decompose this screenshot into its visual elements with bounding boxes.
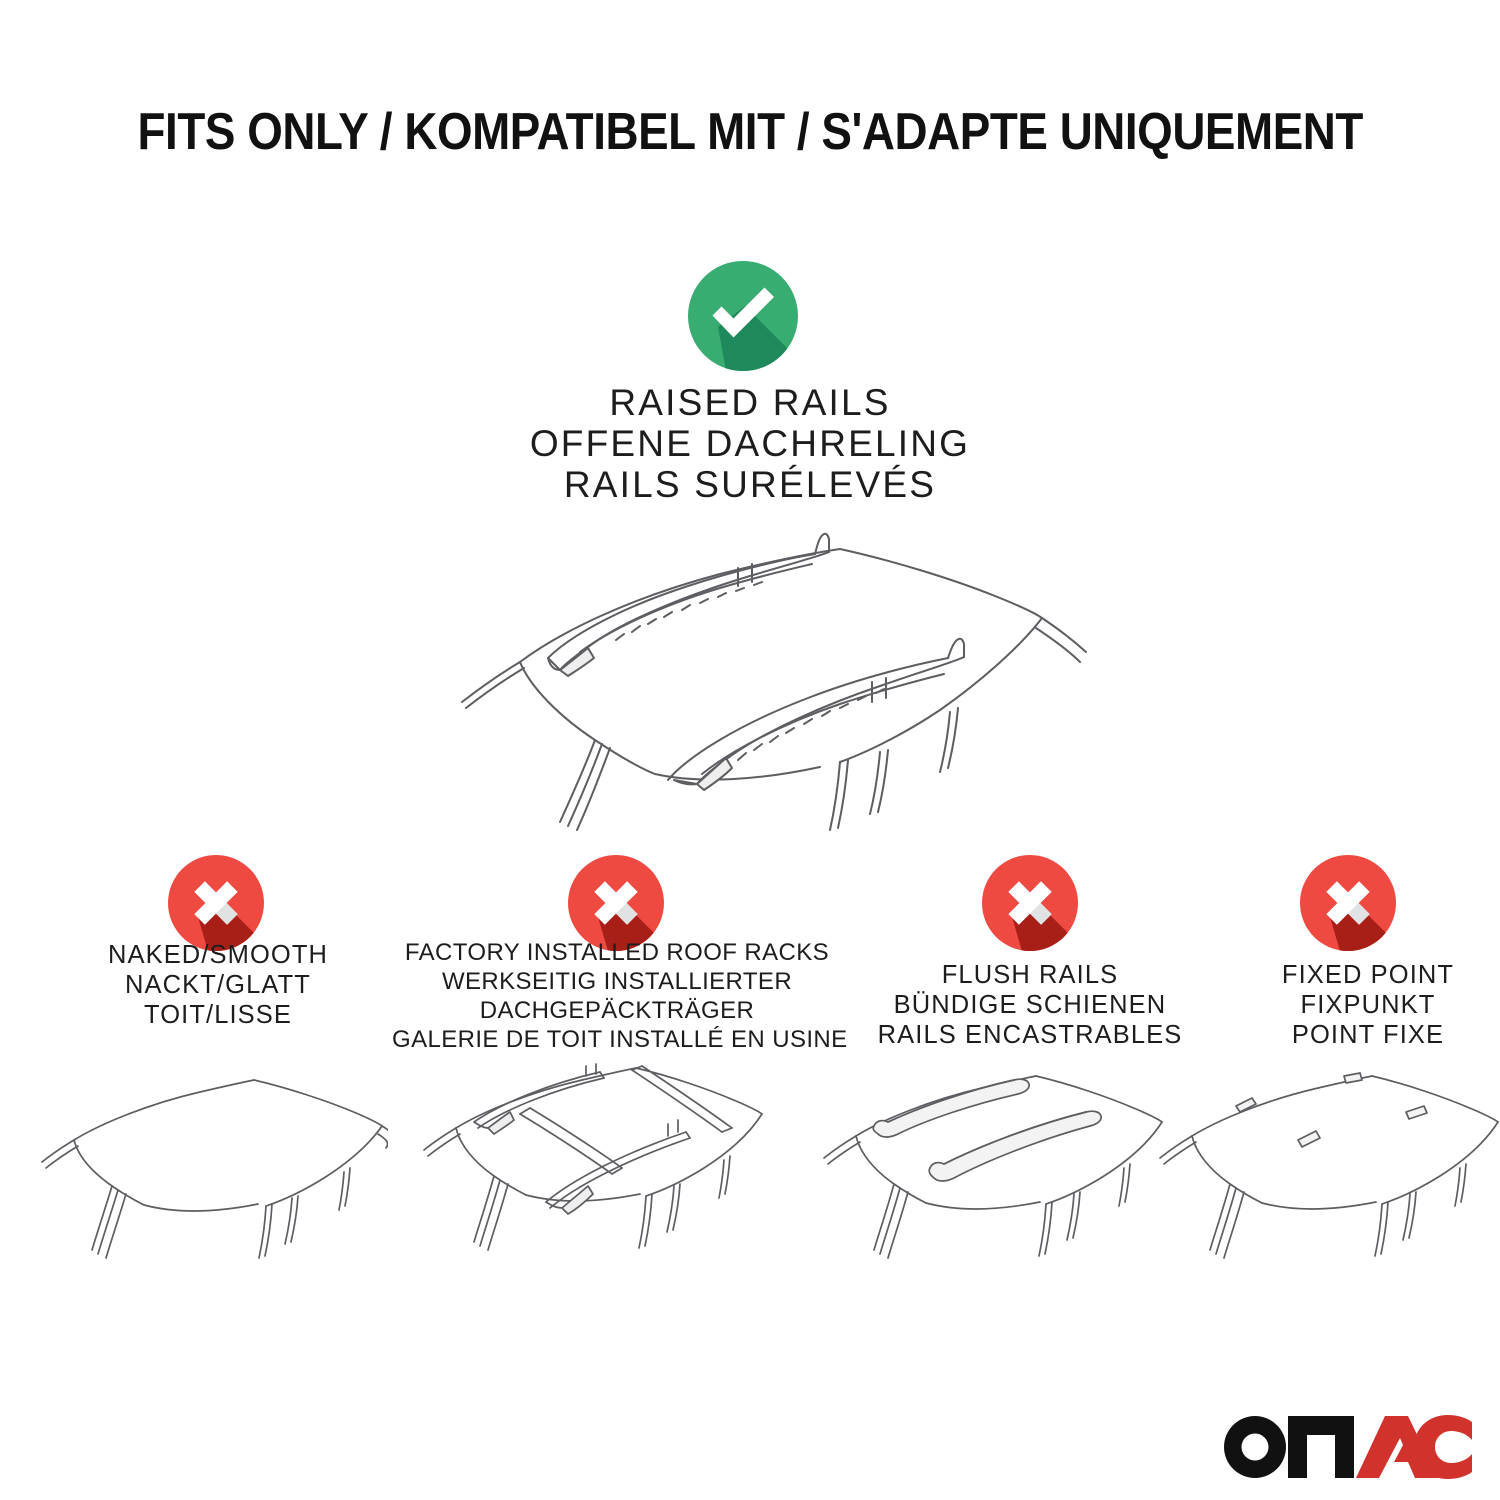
cross-circle-icon-glyph	[982, 855, 1078, 951]
compatible-caption-line-1: RAISED RAILS	[0, 382, 1500, 423]
incompatible-caption-2-line-2: WERKSEITIG INSTALLIERTER	[392, 967, 842, 996]
cross-circle-icon	[982, 855, 1078, 951]
incompatible-caption-4-line-2: FIXPUNKT	[1168, 990, 1500, 1020]
cross-circle-icon	[1300, 855, 1396, 951]
incompatible-caption-2-line-3: DACHGEPÄCKTRÄGER	[392, 996, 842, 1025]
incompatible-caption-1-line-2: NACKT/GLATT	[18, 970, 418, 1000]
incompatible-caption-1-line-1: NAKED/SMOOTH	[18, 940, 418, 970]
compatible-caption-line-2: OFFENE DACHRELING	[0, 423, 1500, 464]
incompatible-caption-4-line-3: POINT FIXE	[1168, 1020, 1500, 1050]
check-circle-icon-glyph	[688, 261, 798, 371]
incompatible-caption-1: NAKED/SMOOTH NACKT/GLATT TOIT/LISSE	[18, 940, 418, 1030]
check-circle-icon	[688, 261, 798, 371]
cross-circle-icon-glyph	[1300, 855, 1396, 951]
omac-logo-mark	[1222, 1404, 1472, 1482]
cross-circle-icon	[568, 855, 664, 951]
car-roof-naked-illustration	[38, 1068, 388, 1293]
compatible-caption-line-3: RAILS SURÉLEVÉS	[0, 464, 1500, 505]
incompatible-caption-2-line-4: GALERIE DE TOIT INSTALLÉ EN USINE	[392, 1025, 842, 1054]
incompatible-caption-1-line-3: TOIT/LISSE	[18, 1000, 418, 1030]
incompatible-caption-2-line-1: FACTORY INSTALLED ROOF RACKS	[392, 938, 842, 967]
cross-circle-icon-glyph	[568, 855, 664, 951]
compatible-caption: RAISED RAILS OFFENE DACHRELING RAILS SUR…	[0, 382, 1500, 505]
cross-circle-icon	[168, 855, 264, 951]
incompatible-caption-4-line-1: FIXED POINT	[1168, 960, 1500, 990]
page-title-text: FITS ONLY / KOMPATIBEL MIT / S'ADAPTE UN…	[137, 106, 1362, 158]
car-roof-flush-rails-illustration	[808, 1068, 1164, 1294]
incompatible-caption-2: FACTORY INSTALLED ROOF RACKS WERKSEITIG …	[392, 938, 842, 1054]
page-title: FITS ONLY / KOMPATIBEL MIT / S'ADAPTE UN…	[0, 106, 1500, 158]
cross-circle-icon-glyph	[168, 855, 264, 951]
car-roof-factory-rack-illustration	[400, 1062, 768, 1294]
car-roof-fixed-point-illustration	[1148, 1068, 1500, 1294]
car-roof-raised-rails-illustration	[420, 512, 1100, 842]
omac-logo	[1222, 1404, 1472, 1482]
incompatible-caption-4: FIXED POINT FIXPUNKT POINT FIXE	[1168, 960, 1500, 1050]
